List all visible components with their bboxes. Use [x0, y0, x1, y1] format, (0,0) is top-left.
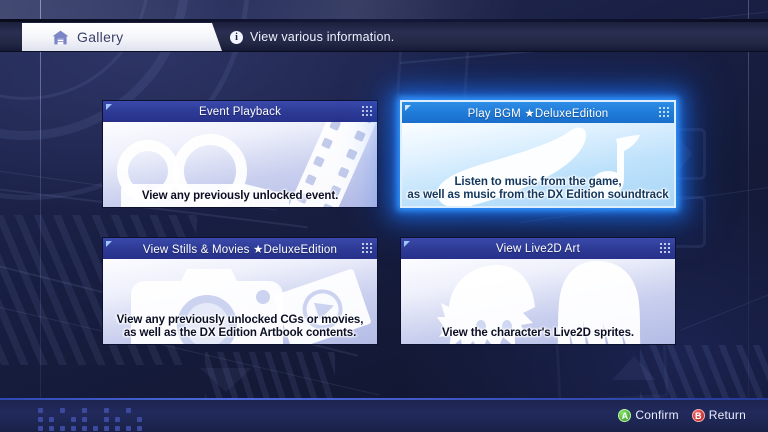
card-description-line: View any previously unlocked CGs or movi…	[103, 314, 377, 327]
card-title-label: View Live2D Art	[496, 243, 580, 255]
card-description-line: View any previously unlocked event.	[103, 190, 377, 203]
card-description: View the character's Live2D sprites.	[401, 327, 675, 344]
card-title-label: Event Playback	[199, 106, 281, 118]
footer-bar: A Confirm B Return	[0, 398, 768, 432]
dot-grid-icon	[659, 107, 669, 117]
card-title-bar: Play BGM ★DeluxeEdition	[402, 102, 674, 123]
card-body: View the character's Live2D sprites.	[401, 259, 675, 344]
button-return-label: Return	[709, 408, 746, 422]
gallery-card-play-bgm[interactable]: Play BGM ★DeluxeEdition Listen to music …	[400, 100, 676, 208]
card-description: Listen to music from the game, as well a…	[402, 176, 674, 206]
card-description: View any previously unlocked event.	[103, 190, 377, 207]
gallery-card-live2d-art[interactable]: View Live2D Art View the character's Liv…	[400, 237, 676, 345]
card-body: View any previously unlocked CGs or movi…	[103, 259, 377, 344]
button-return[interactable]: B Return	[692, 408, 746, 422]
gallery-card-stills-movies[interactable]: View Stills & Movies ★DeluxeEdition	[102, 237, 378, 345]
card-description-line: View the character's Live2D sprites.	[401, 327, 675, 340]
dot-grid-icon	[660, 243, 670, 253]
footer-dot-pattern	[38, 408, 154, 431]
corner-marker-icon	[106, 241, 112, 247]
dot-grid-icon	[362, 243, 372, 253]
tab-gallery-label: Gallery	[77, 29, 123, 45]
info-icon: i	[230, 31, 243, 44]
card-body: View any previously unlocked event.	[103, 122, 377, 207]
card-description-line: Listen to music from the game,	[402, 176, 674, 189]
button-confirm[interactable]: A Confirm	[618, 408, 678, 422]
card-title-label: Play BGM ★DeluxeEdition	[468, 106, 609, 120]
card-description: View any previously unlocked CGs or movi…	[103, 314, 377, 344]
dot-grid-icon	[362, 106, 372, 116]
card-title-bar: Event Playback	[103, 101, 377, 122]
corner-marker-icon	[405, 105, 411, 111]
corner-marker-icon	[404, 241, 410, 247]
tab-gallery[interactable]: Gallery	[22, 23, 222, 51]
a-button-icon: A	[618, 409, 631, 422]
home-icon	[52, 30, 69, 45]
corner-marker-icon	[106, 104, 112, 110]
header-bar: Gallery i View various information.	[0, 22, 768, 52]
footer-buttons: A Confirm B Return	[618, 398, 746, 432]
header-description: i View various information.	[230, 22, 394, 52]
gallery-card-grid: Event Playback	[0, 0, 768, 432]
card-title-bar: View Stills & Movies ★DeluxeEdition	[103, 238, 377, 259]
card-body: Listen to music from the game, as well a…	[402, 123, 674, 206]
card-description-line: as well as music from the DX Edition sou…	[402, 189, 674, 202]
gallery-card-event-playback[interactable]: Event Playback	[102, 100, 378, 208]
card-title-label: View Stills & Movies ★DeluxeEdition	[143, 242, 337, 256]
b-button-icon: B	[692, 409, 705, 422]
header-description-label: View various information.	[250, 30, 394, 44]
button-confirm-label: Confirm	[635, 408, 678, 422]
card-title-bar: View Live2D Art	[401, 238, 675, 259]
card-description-line: as well as the DX Edition Artbook conten…	[103, 327, 377, 340]
